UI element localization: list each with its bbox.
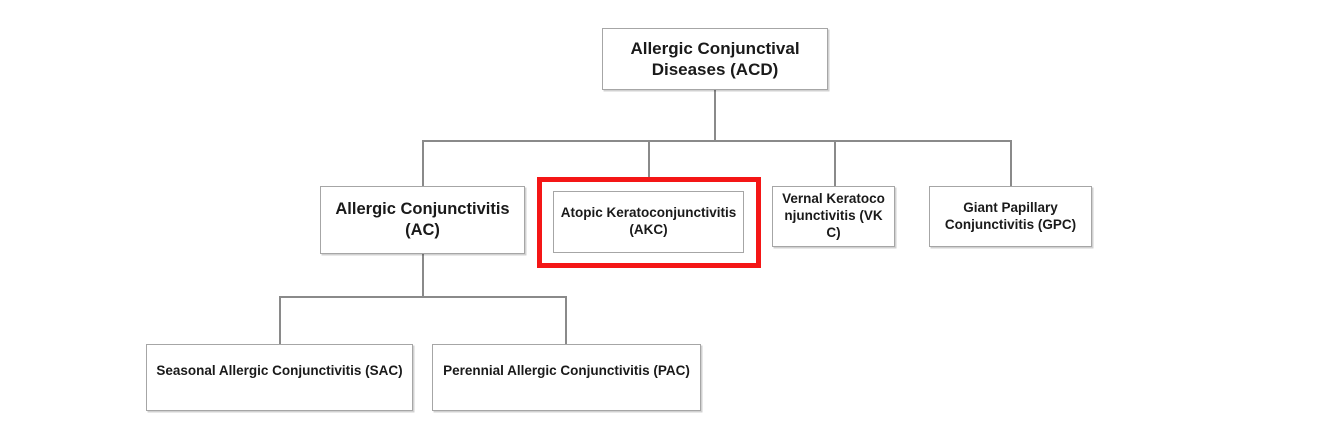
node-gpc[interactable]: Giant Papillary Conjunctivitis (GPC) [929,186,1092,247]
connector-drop-ac [422,140,424,186]
connector-drop-gpc [1010,140,1012,186]
diagram-canvas: Allergic Conjunctival Diseases (ACD) All… [0,0,1344,434]
connector-level3-bus [279,296,567,298]
connector-drop-sac [279,296,281,344]
node-ac[interactable]: Allergic Conjunctivitis (AC) [320,186,525,254]
connector-level2-bus [422,140,1012,142]
node-gpc-label: Giant Papillary Conjunctivitis (GPC) [936,200,1085,234]
node-akc[interactable]: Atopic Keratoconjunctivitis (AKC) [553,191,744,253]
node-acd-label: Allergic Conjunctival Diseases (ACD) [609,38,821,81]
node-ac-label: Allergic Conjunctivitis (AC) [327,199,518,240]
connector-drop-pac [565,296,567,344]
node-akc-label: Atopic Keratoconjunctivitis (AKC) [560,205,737,239]
node-vkc-label: Vernal Keratoconjunctivitis (VKC) [779,191,888,242]
connector-drop-vkc [834,140,836,186]
node-sac-label: Seasonal Allergic Conjunctivitis (SAC) [153,363,406,380]
node-pac[interactable]: Perennial Allergic Conjunctivitis (PAC) [432,344,701,411]
connector-acd-stem [714,90,716,142]
node-sac[interactable]: Seasonal Allergic Conjunctivitis (SAC) [146,344,413,411]
node-vkc[interactable]: Vernal Keratoconjunctivitis (VKC) [772,186,895,247]
node-acd[interactable]: Allergic Conjunctival Diseases (ACD) [602,28,828,90]
connector-ac-stem [422,254,424,298]
node-pac-label: Perennial Allergic Conjunctivitis (PAC) [439,363,694,380]
